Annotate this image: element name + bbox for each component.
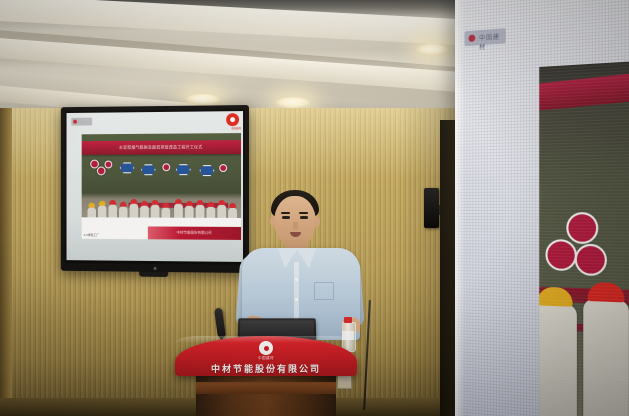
led-badge-text: 中国建材 <box>479 31 506 51</box>
seal-icon <box>575 244 607 276</box>
wall-speaker <box>424 188 439 228</box>
led-slide-content: 西藏山南 中材节能 <box>539 57 629 416</box>
eye <box>282 216 290 219</box>
seal-icon <box>97 166 106 175</box>
display-screen: 水泥窑烟气脱硝及超低排放改造工程开工仪式 <box>67 111 243 262</box>
wall-corner <box>0 108 12 416</box>
ear <box>314 216 320 227</box>
downlight-icon <box>276 97 310 108</box>
shirt-button <box>295 278 298 281</box>
hex-badge-icon <box>120 162 134 173</box>
eyebrow <box>281 212 290 214</box>
led-video-wall[interactable]: 中国建材 西藏山南 中材节能 <box>455 0 629 416</box>
slide-bottom-left-label: 2-0绿色工厂 <box>84 233 100 237</box>
hex-badge-icon <box>141 164 156 175</box>
bottle-cap <box>344 317 352 323</box>
cnbm-logo-icon <box>226 113 239 126</box>
downlight-icon <box>416 44 448 55</box>
cnbm-circle-logo-icon <box>259 341 273 355</box>
display-power-led <box>154 267 157 270</box>
slide-corner-badge <box>71 118 92 126</box>
seal-icon <box>162 163 170 171</box>
seal-icon <box>566 212 598 244</box>
slide-footer-bar: 中材节能股份有限公司 <box>148 226 241 239</box>
shirt-button <box>295 298 298 301</box>
seal-icon <box>105 161 113 169</box>
shirt-pocket <box>314 282 334 300</box>
laptop-screen <box>240 320 314 337</box>
display-mount <box>139 272 168 277</box>
podium-shelf <box>196 382 336 394</box>
slide-footer: 中材节能股份有限公司 2-0绿色工厂 <box>82 217 241 240</box>
led-edge-highlight <box>455 0 465 416</box>
worker-figure <box>583 299 629 416</box>
slide-banner: 水泥窑烟气脱硝及超低排放改造工程开工仪式 <box>82 140 241 155</box>
slide-footer-text: 中材节能股份有限公司 <box>148 226 241 239</box>
podium-base <box>196 374 336 416</box>
eye <box>300 216 308 219</box>
cnbm-logo-caption: 中国建材 <box>231 126 241 130</box>
seal-icon <box>219 164 227 172</box>
podium-logo-caption: 中国建材 <box>175 356 357 361</box>
eyebrow <box>299 212 308 214</box>
led-corner-badge: 中国建材 <box>465 28 506 46</box>
wall-display[interactable]: 水泥窑烟气脱硝及超低排放改造工程开工仪式 <box>61 105 249 273</box>
slide-content: 水泥窑烟气脱硝及超低排放改造工程开工仪式 <box>82 133 241 240</box>
head <box>274 196 316 246</box>
badge-dot-icon <box>468 34 475 42</box>
seal-icon <box>545 239 576 271</box>
nose <box>293 222 298 230</box>
hex-badge-icon <box>176 164 191 175</box>
worker-figure <box>539 303 577 416</box>
hex-badge-icon <box>200 165 215 176</box>
downlight-icon <box>186 94 220 105</box>
led-slide-banner: 西藏山南 中材节能 <box>539 65 629 111</box>
slide-banner-text: 水泥窑烟气脱硝及超低排放改造工程开工仪式 <box>82 140 241 155</box>
podium-company-name: 中材节能股份有限公司 <box>175 362 357 375</box>
ear <box>270 216 276 227</box>
photo-scene: 水泥窑烟气脱硝及超低排放改造工程开工仪式 <box>0 0 629 416</box>
podium: 中国建材 中材节能股份有限公司 <box>175 336 357 376</box>
